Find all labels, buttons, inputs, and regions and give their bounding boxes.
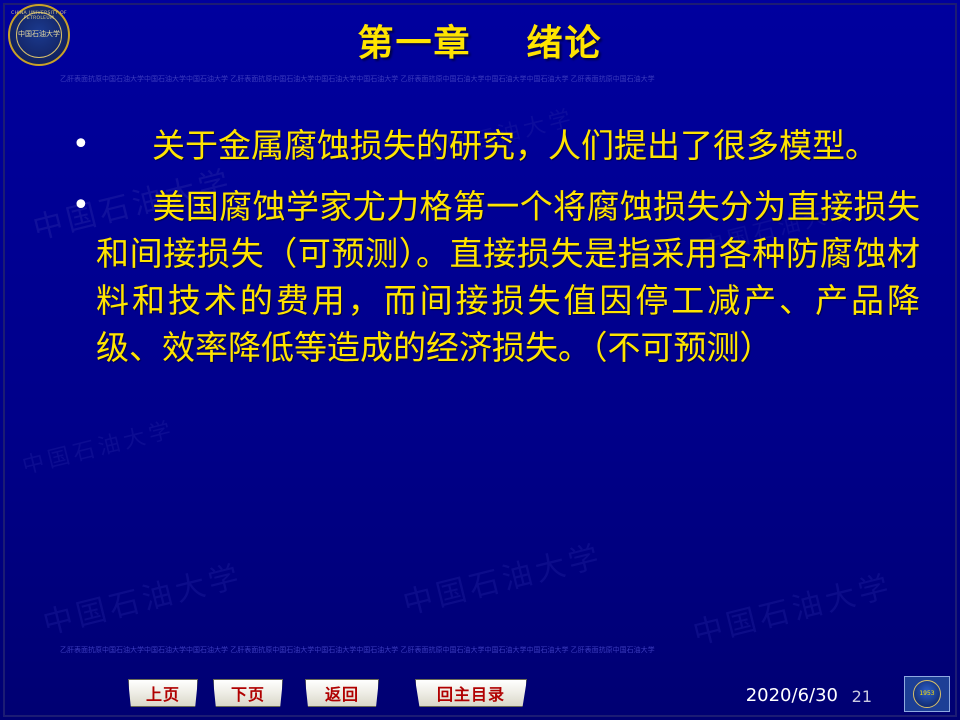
title-chapter: 第一章 (357, 23, 471, 64)
watermark-text: 中国石油大学 (398, 531, 607, 623)
tiny-strip-top: 乙肝表面抗原中国石油大学中国石油大学中国石油大学 乙肝表面抗原中国石油大学中国石… (60, 74, 936, 84)
slide-navbar: 上页 下页 返回 回主目录 2020/6/30 21 1953 (0, 674, 960, 714)
bullet-text: 关于金属腐蚀损失的研究，人们提出了很多模型。 (96, 122, 920, 169)
page-title: 第一章 绪论 (0, 14, 960, 66)
tiny-strip-bottom: 乙肝表面抗原中国石油大学中国石油大学中国石油大学 乙肝表面抗原中国石油大学中国石… (60, 645, 936, 655)
home-menu-button[interactable]: 回主目录 (415, 679, 527, 707)
back-button[interactable]: 返回 (305, 679, 379, 707)
watermark-text: 中国石油大学 (38, 551, 247, 643)
slide-date: 2020/6/30 (746, 685, 838, 706)
bullet-text: 美国腐蚀学家尤力格第一个将腐蚀损失分为直接损失和间接损失（可预测）。直接损失是指… (96, 183, 920, 371)
slide: 中国石油大学 中国石油大学 中国石油大学 中国石油大学 中国石油大学 中国石油大… (0, 0, 960, 720)
bullet-text-content: 美国腐蚀学家尤力格第一个将腐蚀损失分为直接损失和间接损失（可预测）。直接损失是指… (96, 187, 920, 367)
corner-logo: 1953 (904, 676, 950, 712)
slide-page-number: 21 (852, 687, 872, 706)
prev-page-button[interactable]: 上页 (128, 679, 198, 707)
bullet-item: • 美国腐蚀学家尤力格第一个将腐蚀损失分为直接损失和间接损失（可预测）。直接损失… (58, 183, 920, 371)
bullet-marker-icon: • (58, 122, 96, 168)
bullet-text-content: 关于金属腐蚀损失的研究，人们提出了很多模型。 (152, 126, 878, 165)
title-subject: 绪论 (527, 23, 603, 64)
next-page-button[interactable]: 下页 (213, 679, 283, 707)
watermark-text: 中国石油大学 (688, 561, 897, 653)
bullet-marker-icon: • (58, 183, 96, 229)
slide-body: • 关于金属腐蚀损失的研究，人们提出了很多模型。 • 美国腐蚀学家尤力格第一个将… (58, 122, 920, 385)
bullet-item: • 关于金属腐蚀损失的研究，人们提出了很多模型。 (58, 122, 920, 169)
corner-logo-inner-text: 1953 (913, 680, 941, 708)
watermark-text: 中国石油大学 (18, 412, 177, 481)
